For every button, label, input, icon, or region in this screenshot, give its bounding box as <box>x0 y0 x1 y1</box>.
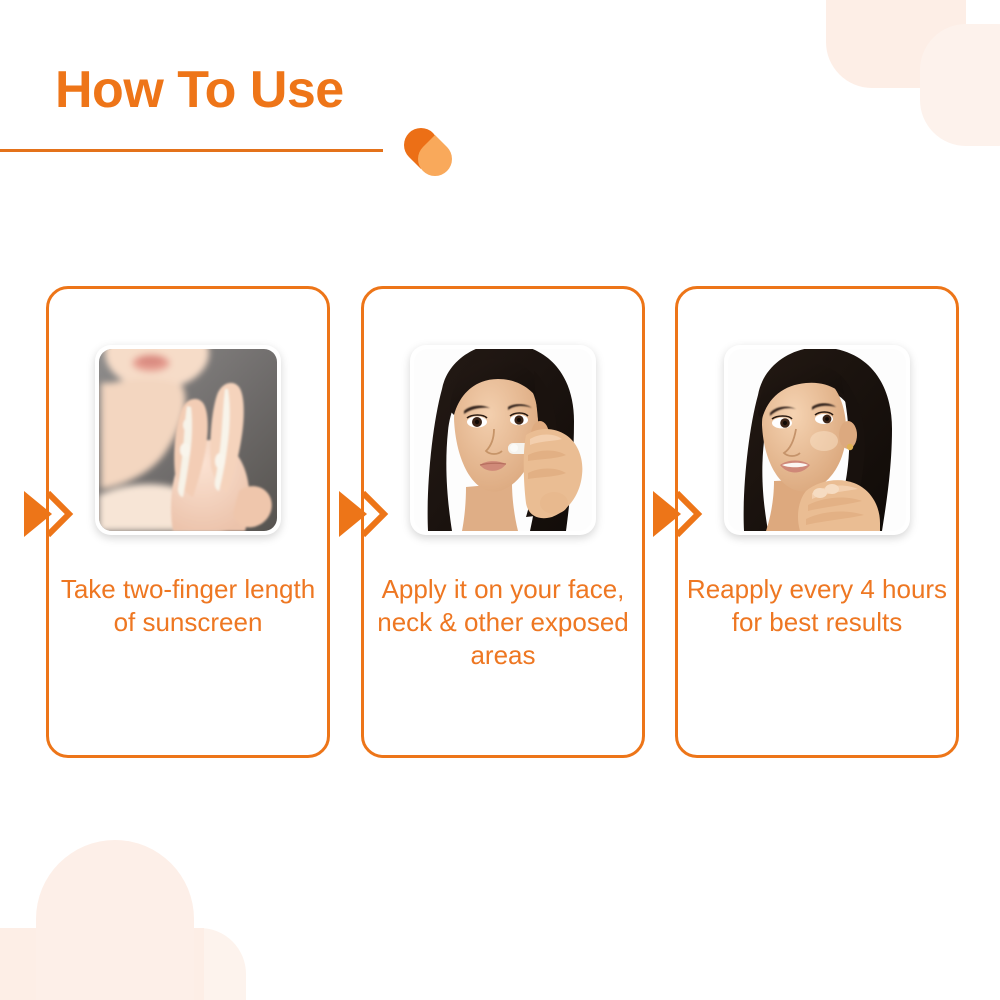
step-card-3[interactable]: Reapply every 4 hours for best results <box>675 286 959 758</box>
decorative-blob-top-right-2 <box>920 24 1000 146</box>
steps-row: Take two-finger length of sunscreen <box>0 286 1000 762</box>
step-image-frame-3 <box>724 345 910 535</box>
two-fingers-with-sunscreen-photo <box>99 349 277 531</box>
step-caption-2: Apply it on your face, neck & other expo… <box>372 573 634 672</box>
page-header: How To Use <box>0 60 470 120</box>
clover-icon <box>404 128 452 176</box>
double-chevron-right-icon <box>651 489 707 539</box>
woman-applying-sunscreen-to-cheek-photo <box>414 349 592 531</box>
double-chevron-right-icon <box>337 489 393 539</box>
title-underline-rule <box>0 149 383 152</box>
step-caption-3: Reapply every 4 hours for best results <box>686 573 948 639</box>
double-chevron-right-icon <box>22 489 78 539</box>
step-image-frame-2 <box>410 345 596 535</box>
page-title: How To Use <box>0 60 470 120</box>
decorative-arch-bottom-left <box>36 840 194 1000</box>
step-caption-1: Take two-finger length of sunscreen <box>57 573 319 639</box>
step-card-2[interactable]: Apply it on your face, neck & other expo… <box>361 286 645 758</box>
woman-touching-glowing-jawline-photo <box>728 349 906 531</box>
step-card-1[interactable]: Take two-finger length of sunscreen <box>46 286 330 758</box>
how-to-use-infographic: How To Use <box>0 0 1000 1000</box>
step-image-frame-1 <box>95 345 281 535</box>
